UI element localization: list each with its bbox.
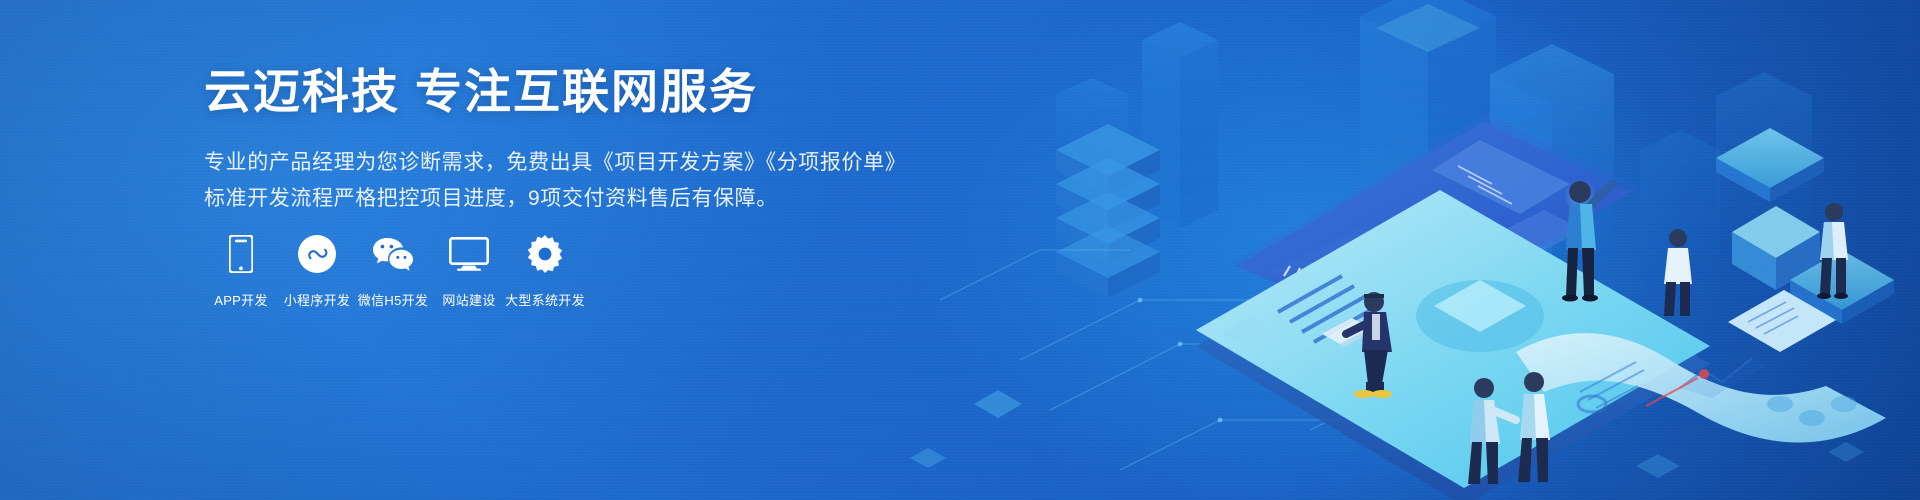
page-title: 云迈科技 专注互联网服务 — [204, 66, 944, 119]
subtitle-line-2: 标准开发流程严格把控项目进度，9项交付资料售后有保障。 — [204, 181, 944, 217]
service-item-website[interactable]: 网站建设 — [432, 232, 506, 309]
hero-illustration — [880, 0, 1920, 500]
mini-program-icon — [298, 232, 336, 276]
service-label: 大型系统开发 — [505, 290, 585, 309]
service-list: APP开发 小程序开发 微信 — [204, 232, 584, 309]
hero-subtitle: 专业的产品经理为您诊断需求，免费出具《项目开发方案》《分项报价单》 标准开发流程… — [204, 145, 944, 217]
service-label: APP开发 — [214, 290, 268, 309]
monitor-icon — [449, 232, 489, 276]
wechat-icon — [372, 232, 414, 276]
service-label: 网站建设 — [442, 290, 495, 309]
hero-banner: 云迈科技 专注互联网服务 专业的产品经理为您诊断需求，免费出具《项目开发方案》《… — [0, 0, 1920, 500]
hero-text-block: 云迈科技 专注互联网服务 专业的产品经理为您诊断需求，免费出具《项目开发方案》《… — [204, 66, 944, 217]
gear-icon — [526, 232, 564, 276]
service-item-system[interactable]: 大型系统开发 — [508, 232, 582, 309]
service-item-mini-program[interactable]: 小程序开发 — [280, 232, 354, 309]
service-item-wechat-h5[interactable]: 微信H5开发 — [356, 232, 430, 309]
service-item-app[interactable]: APP开发 — [204, 232, 278, 309]
subtitle-line-1: 专业的产品经理为您诊断需求，免费出具《项目开发方案》《分项报价单》 — [204, 145, 944, 181]
service-label: 微信H5开发 — [358, 290, 428, 309]
mobile-phone-icon — [229, 232, 253, 276]
service-label: 小程序开发 — [284, 290, 351, 309]
